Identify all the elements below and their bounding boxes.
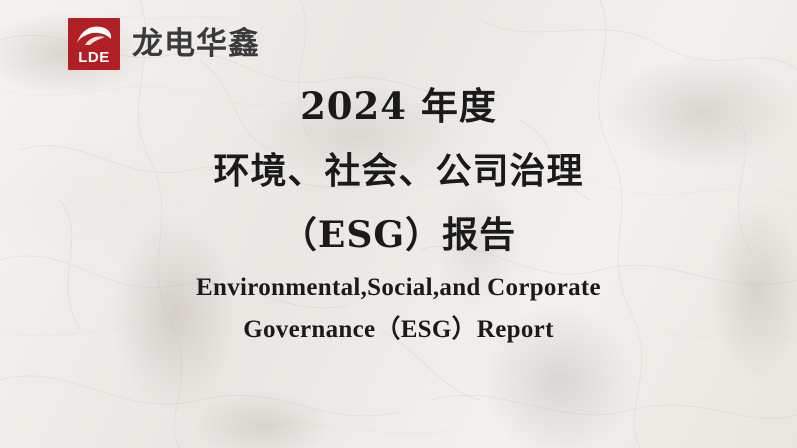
- logo-company-name: 龙电华鑫: [132, 29, 260, 60]
- title-cn-line-3: （ESG）报告: [0, 217, 797, 253]
- logo-mark-text: LDE: [78, 50, 110, 65]
- logo-mark-icon: LDE: [68, 18, 120, 70]
- title-en-line-1: Environmental,Social,and Corporate: [0, 275, 797, 301]
- cover-title-block: 2024 年度 环境、社会、公司治理 （ESG）报告 Environmental…: [0, 88, 797, 344]
- title-en-line-2: Governance（ESG）Report: [0, 317, 797, 343]
- report-cover-page: LDE 龙电华鑫 2024 年度 环境、社会、公司治理 （ESG）报告 Envi…: [0, 0, 797, 448]
- company-logo: LDE 龙电华鑫: [68, 18, 260, 70]
- title-cn-line-1: 2024 年度: [0, 88, 797, 125]
- logo-swoosh-icon: [75, 25, 113, 47]
- title-cn-line-2: 环境、社会、公司治理: [0, 153, 797, 189]
